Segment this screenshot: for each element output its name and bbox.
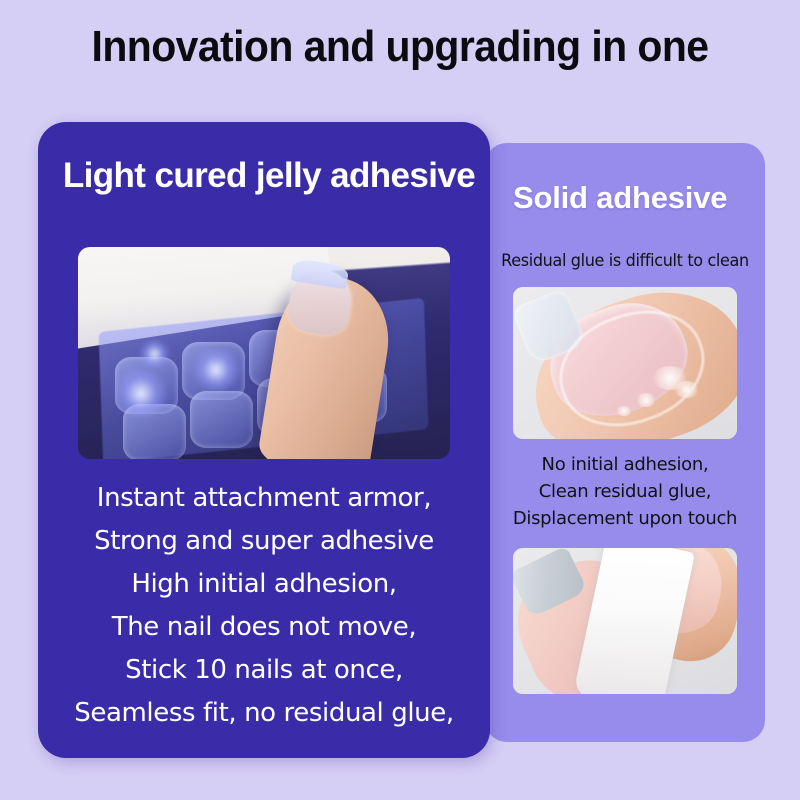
residual-glue-photo: [513, 287, 737, 439]
page-title: Innovation and upgrading in one: [28, 22, 772, 72]
jelly-adhesive-panel: Light cured jelly adhesive Instant attac…: [38, 122, 490, 758]
uv-lamp-photo: [78, 247, 450, 459]
cotton-wipe-photo: [513, 548, 737, 694]
jelly-feature-line: Seamless fit, no residual glue,: [44, 692, 484, 735]
solid-adhesive-panel: Solid adhesive Residual glue is difficul…: [485, 143, 765, 742]
solid-adhesive-subtitle: Residual glue is difficult to clean: [489, 251, 761, 270]
solid-feature-line: Clean residual glue,: [485, 478, 765, 505]
solid-adhesive-feature-list: No initial adhesion, Clean residual glue…: [485, 451, 765, 532]
jelly-adhesive-feature-list: Instant attachment armor, Strong and sup…: [44, 477, 484, 735]
jelly-feature-line: Strong and super adhesive: [44, 520, 484, 563]
jelly-feature-line: Instant attachment armor,: [44, 477, 484, 520]
jelly-feature-line: The nail does not move,: [44, 606, 484, 649]
jelly-feature-line: High initial adhesion,: [44, 563, 484, 606]
jelly-feature-line: Stick 10 nails at once,: [44, 649, 484, 692]
solid-adhesive-heading: Solid adhesive: [513, 180, 727, 216]
jelly-adhesive-heading: Light cured jelly adhesive: [53, 156, 485, 196]
solid-feature-line: Displacement upon touch: [485, 505, 765, 532]
solid-feature-line: No initial adhesion,: [485, 451, 765, 478]
